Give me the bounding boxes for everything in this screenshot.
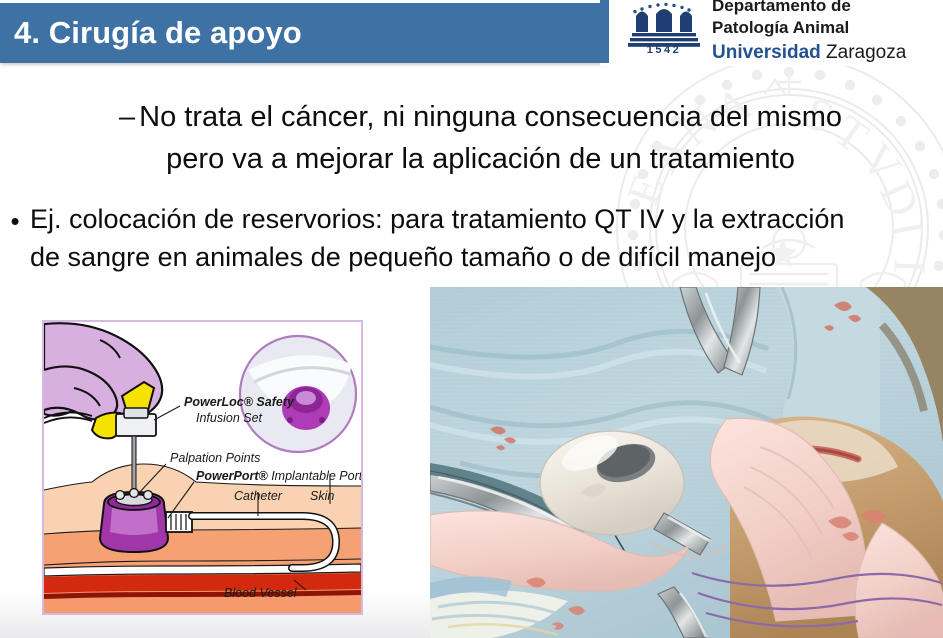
diagram-label-skin: Skin [310, 489, 334, 503]
bullet-marker: • [0, 200, 30, 276]
logo-university-word: Universidad [712, 42, 821, 63]
diagram-label-infusion-set-line1: PowerLoc® Safety [184, 395, 295, 409]
logo-line-faculty: Patología Animal [712, 17, 906, 39]
paragraph-sub-bullet: –No trata el cáncer, ni ninguna consecue… [0, 96, 943, 180]
page-title: 4. Cirugía de apoyo [14, 15, 302, 51]
diagram-label-blood-vessel: Blood Vessel [224, 586, 298, 600]
body-text-block: –No trata el cáncer, ni ninguna consecue… [0, 96, 943, 180]
slide-title-bar: 4. Cirugía de apoyo [0, 3, 606, 63]
paragraph-line-1: No trata el cáncer, ni ninguna consecuen… [139, 101, 842, 133]
slide-canvas: S T V D I I A N A E [0, 0, 943, 638]
bullet-text: Ej. colocación de reservorios: para trat… [30, 200, 943, 276]
paragraph-dash-marker: – [119, 101, 135, 133]
university-logo-block: 1542 Departamento de Patología Animal Un… [600, 0, 943, 66]
crest-year-label: 1542 [628, 44, 700, 56]
logo-accent-bar [600, 0, 609, 63]
diagram-label-infusion-set-line2: Infusion Set [196, 411, 263, 425]
bullet-line-1: Ej. colocación de reservorios: para trat… [30, 204, 844, 234]
university-logo-text: Departamento de Patología Animal Univers… [712, 0, 906, 65]
diagram-label-catheter: Catheter [234, 489, 283, 503]
diagram-label-implantable-port: PowerPort® Implantable Port [196, 469, 361, 483]
diagram-label-palpation-points: Palpation Points [170, 451, 260, 465]
bullet-item: • Ej. colocación de reservorios: para tr… [0, 200, 943, 276]
powerport-diagram: PowerLoc® Safety Infusion Set Palpation … [42, 320, 363, 615]
surgery-photograph [430, 287, 943, 638]
paragraph-line-2: pero va a mejorar la aplicación de un tr… [166, 143, 795, 175]
bullet-line-2: de sangre en animales de pequeño tamaño … [30, 242, 776, 272]
logo-line-department: Departamento de [712, 0, 906, 17]
logo-zaragoza-word: Zaragoza [821, 42, 907, 63]
logo-line-university: Universidad Zaragoza [712, 40, 906, 65]
